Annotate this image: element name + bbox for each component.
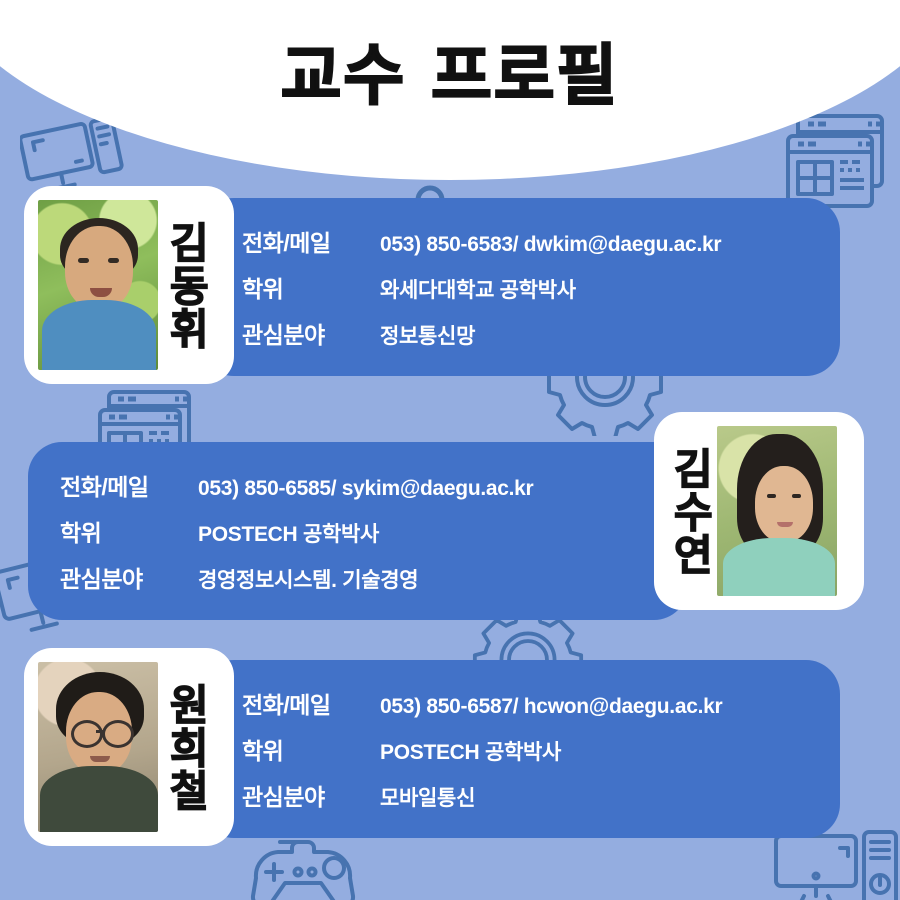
row-value-degree: POSTECH 공학박사 [380,736,561,766]
professor-photo-card-3: 원희철 [24,648,234,846]
row-value-degree: POSTECH 공학박사 [198,518,379,548]
row-label-degree: 학위 [60,514,198,548]
gamepad-icon [238,828,368,900]
row-value-contact: 053) 850-6587/ hcwon@daegu.ac.kr [380,695,722,719]
info-row-interest: 관심분야 경영정보시스템. 기술경영 [60,560,533,594]
professor-name-3: 원희철 [164,662,207,832]
avatar [717,426,837,596]
row-value-contact: 053) 850-6583/ dwkim@daegu.ac.kr [380,233,721,257]
row-value-interest: 모바일통신 [380,782,475,812]
row-value-degree: 와세다대학교 공학박사 [380,274,576,304]
info-row-interest: 관심분야 모바일통신 [242,778,722,812]
avatar [38,200,158,370]
poster-root: 교수 프로필 전화/메일 053) 850-6583/ dwkim@daegu.… [0,0,900,900]
row-label-contact: 전화/메일 [242,224,380,258]
row-value-interest: 정보통신망 [380,320,475,350]
info-row-degree: 학위 POSTECH 공학박사 [60,514,533,548]
info-row-contact: 전화/메일 053) 850-6583/ dwkim@daegu.ac.kr [242,224,721,258]
info-row-interest: 관심분야 정보통신망 [242,316,721,350]
info-row-contact: 전화/메일 053) 850-6587/ hcwon@daegu.ac.kr [242,686,722,720]
row-label-interest: 관심분야 [242,316,380,350]
info-row-contact: 전화/메일 053) 850-6585/ sykim@daegu.ac.kr [60,468,533,502]
professor-name-2: 김수연 [668,426,711,596]
professor-info-card-1: 전화/메일 053) 850-6583/ dwkim@daegu.ac.kr 학… [200,198,840,376]
row-value-interest: 경영정보시스템. 기술경영 [198,564,418,594]
professor-name-1: 김동휘 [164,200,207,370]
info-row-degree: 학위 와세다대학교 공학박사 [242,270,721,304]
row-label-degree: 학위 [242,270,380,304]
professor-photo-card-1: 김동휘 [24,186,234,384]
page-title: 교수 프로필 [0,22,900,118]
row-label-interest: 관심분야 [242,778,380,812]
professor-photo-card-2: 김수연 [654,412,864,610]
professor-info-card-2: 전화/메일 053) 850-6585/ sykim@daegu.ac.kr 학… [28,442,688,620]
row-label-interest: 관심분야 [60,560,198,594]
info-row-degree: 학위 POSTECH 공학박사 [242,732,722,766]
row-label-contact: 전화/메일 [60,468,198,502]
avatar [38,662,158,832]
row-label-degree: 학위 [242,732,380,766]
professor-info-card-3: 전화/메일 053) 850-6587/ hcwon@daegu.ac.kr 학… [200,660,840,838]
row-value-contact: 053) 850-6585/ sykim@daegu.ac.kr [198,477,533,501]
row-label-contact: 전화/메일 [242,686,380,720]
